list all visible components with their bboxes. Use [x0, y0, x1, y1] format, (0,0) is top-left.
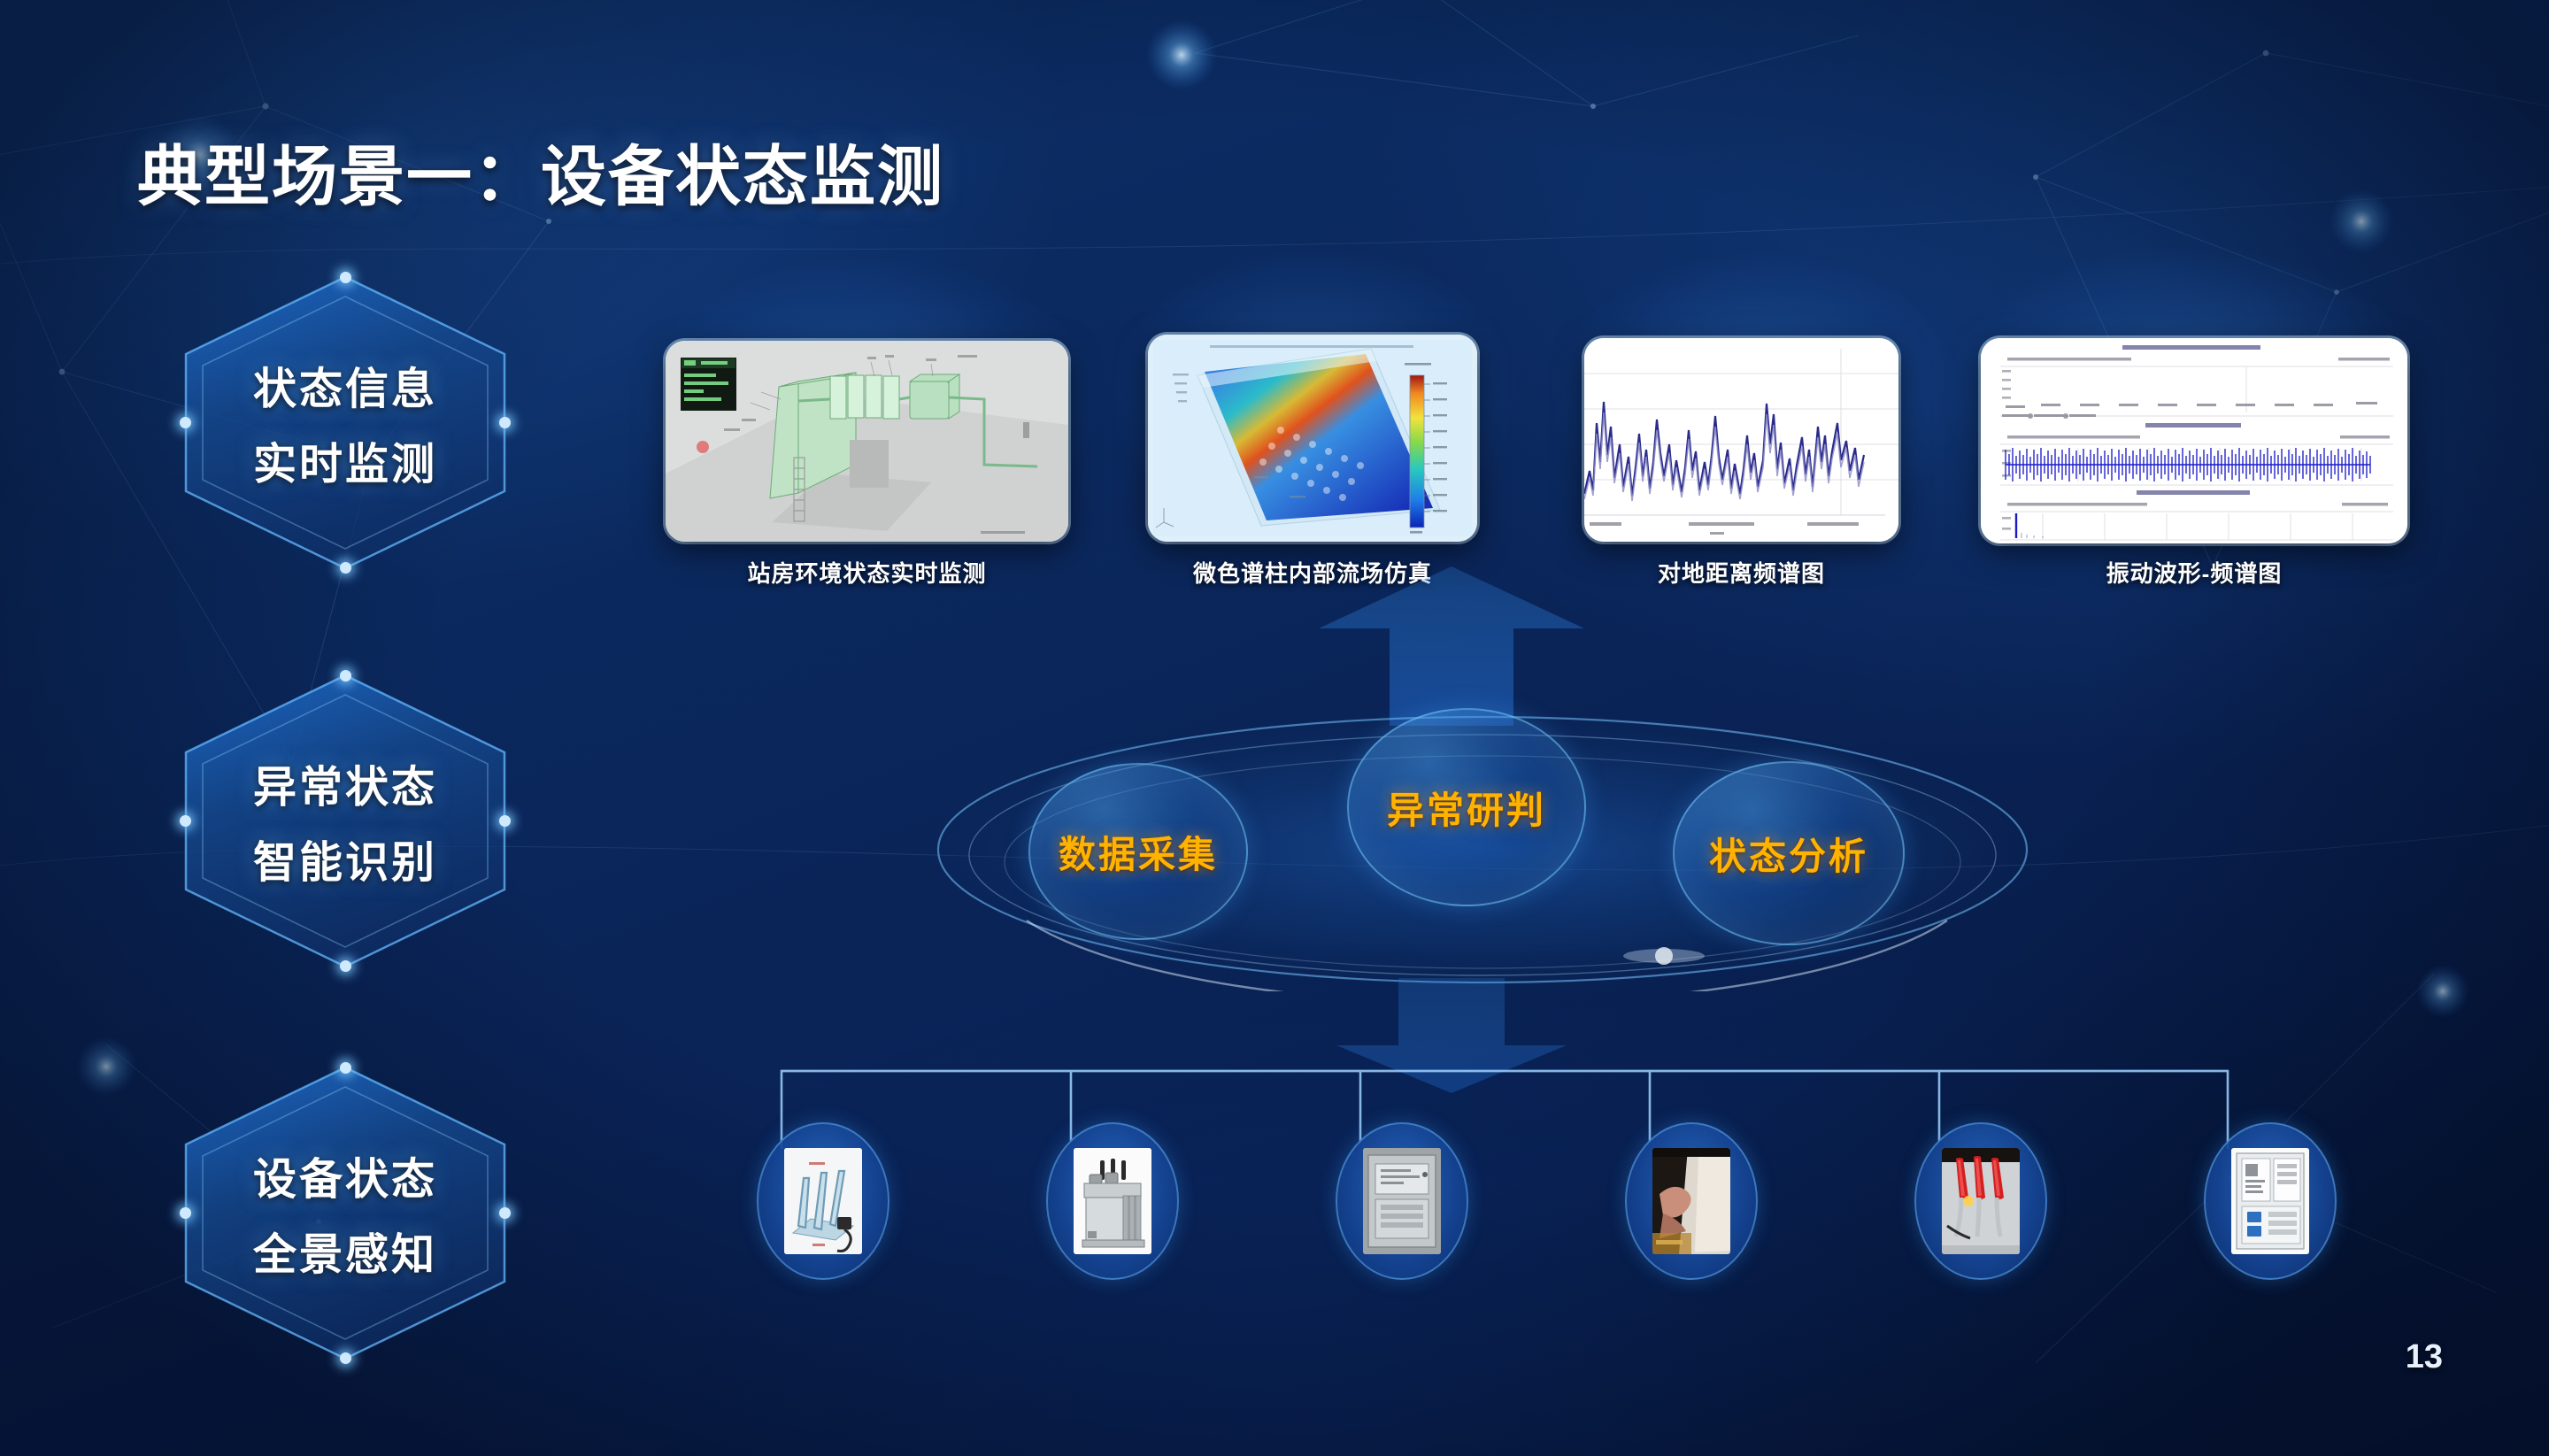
screenshot-card-vibration-waveform[interactable] [1981, 338, 2407, 543]
slide-title: 典型场景一：设备状态监测 [137, 124, 944, 219]
core-process-diagram: 数据采集 异常研判 状态分析 [920, 699, 2045, 991]
stage-label-line1: 设备状态 [253, 1144, 437, 1207]
presentation-slide: 典型场景一：设备状态监测 状态信息 实时监测 [0, 0, 2549, 1456]
screenshot-card-spectrum-chart[interactable] [1584, 338, 1898, 542]
device-photo-control-cabinet [1363, 1148, 1441, 1254]
core-bubble-3[interactable]: 状态分析 [1673, 761, 1905, 945]
stage-label-line1: 异常状态 [253, 752, 437, 815]
core-bubble-3-label: 状态分析 [1709, 827, 1868, 881]
device-circle-cable-termination[interactable] [1625, 1122, 1758, 1280]
stage-hexagon-2-label: 异常状态 智能识别 [173, 668, 518, 974]
device-photo-disconnector-switch [784, 1148, 862, 1254]
device-photo-switchgear-panel [2231, 1148, 2309, 1254]
device-bracket-connector [726, 1053, 2283, 1151]
core-bubble-2-label: 异常研判 [1387, 781, 1546, 835]
device-circle-disconnector-switch[interactable] [757, 1122, 889, 1280]
stage-label-line1: 状态信息 [253, 354, 437, 417]
stage-label-line2: 全景感知 [253, 1220, 437, 1283]
device-circle-control-cabinet[interactable] [1336, 1122, 1468, 1280]
vibration-waveform-image [1981, 338, 2407, 543]
device-circle-switchgear-panel[interactable] [2204, 1122, 2337, 1280]
screenshot-caption-4: 振动波形-频谱图 [1981, 556, 2407, 589]
stage-label-line2: 实时监测 [253, 429, 437, 492]
device-circle-power-transformer[interactable] [1046, 1122, 1179, 1280]
spectrum-chart-image [1584, 338, 1898, 542]
device-circle-red-cable-connectors[interactable] [1914, 1122, 2047, 1280]
core-bubble-1[interactable]: 数据采集 [1028, 763, 1248, 940]
stage-hexagon-3-label: 设备状态 全景感知 [173, 1060, 518, 1366]
core-bubble-2[interactable]: 异常研判 [1347, 708, 1586, 906]
stage-hexagon-1-label: 状态信息 实时监测 [173, 270, 518, 575]
cfd-simulation-image [1148, 335, 1477, 542]
stage-label-line2: 智能识别 [253, 828, 437, 890]
screenshot-card-station-3d-layout[interactable] [666, 341, 1068, 542]
device-photo-cable-termination [1652, 1148, 1730, 1254]
station-3d-layout-image [666, 341, 1068, 542]
screenshot-card-cfd-simulation[interactable] [1148, 335, 1477, 542]
stage-hexagon-3[interactable]: 设备状态 全景感知 [173, 1060, 518, 1366]
device-photo-red-cable-connectors [1942, 1148, 2020, 1254]
core-bubble-1-label: 数据采集 [1059, 825, 1218, 879]
stage-hexagon-2[interactable]: 异常状态 智能识别 [173, 668, 518, 974]
device-photo-power-transformer [1074, 1148, 1151, 1254]
stage-hexagon-1[interactable]: 状态信息 实时监测 [173, 270, 518, 575]
page-number: 13 [2406, 1338, 2443, 1376]
screenshot-caption-1: 站房环境状态实时监测 [666, 556, 1068, 589]
